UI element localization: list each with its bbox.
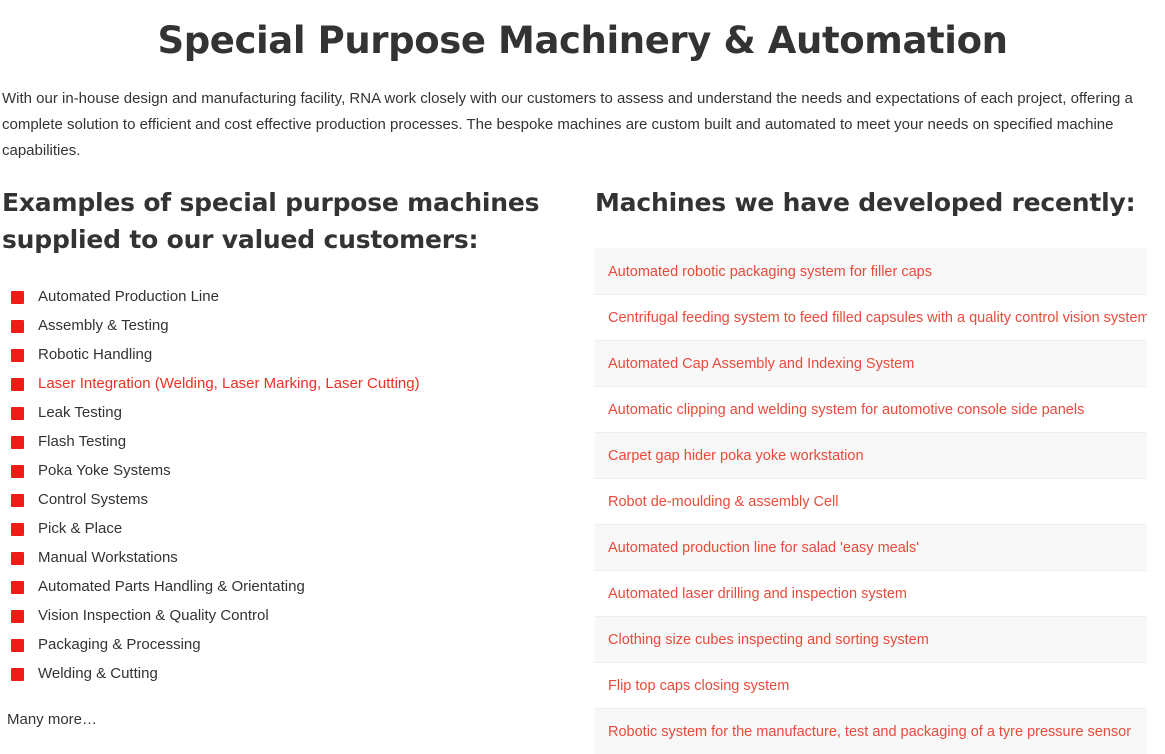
list-item: Automated Parts Handling & Orientating	[2, 572, 575, 601]
machine-list-row[interactable]: Automated production line for salad 'eas…	[595, 524, 1147, 570]
machine-link[interactable]: Clothing size cubes inspecting and sorti…	[608, 617, 929, 662]
page-container: Special Purpose Machinery & Automation W…	[0, 0, 1165, 738]
intro-paragraph: With our in-house design and manufacturi…	[0, 64, 1165, 164]
bullet-square-icon	[11, 639, 24, 652]
list-item-label: Robotic Handling	[38, 346, 152, 363]
bullet-square-icon	[11, 494, 24, 507]
list-item-label: Assembly & Testing	[38, 317, 169, 334]
bullet-square-icon	[11, 436, 24, 449]
machine-list-row[interactable]: Automatic clipping and welding system fo…	[595, 386, 1147, 432]
list-item-label: Manual Workstations	[38, 549, 178, 566]
machine-link[interactable]: Robotic system for the manufacture, test…	[608, 709, 1131, 754]
machine-link[interactable]: Automated production line for salad 'eas…	[608, 525, 919, 570]
bullet-square-icon	[11, 378, 24, 391]
bullet-square-icon	[11, 465, 24, 478]
two-column-layout: Examples of special purpose machines sup…	[0, 164, 1165, 754]
list-item-label: Control Systems	[38, 491, 148, 508]
list-item-label[interactable]: Laser Integration (Welding, Laser Markin…	[38, 375, 420, 392]
list-item: Pick & Place	[2, 514, 575, 543]
bullet-square-icon	[11, 320, 24, 333]
list-item[interactable]: Laser Integration (Welding, Laser Markin…	[2, 369, 575, 398]
machine-list-row[interactable]: Flip top caps closing system	[595, 662, 1147, 708]
machine-link[interactable]: Centrifugal feeding system to feed fille…	[608, 295, 1147, 340]
machine-link[interactable]: Automated laser drilling and inspection …	[608, 571, 907, 616]
bullet-square-icon	[11, 610, 24, 623]
list-item-label: Automated Production Line	[38, 288, 219, 305]
list-item-label: Pick & Place	[38, 520, 122, 537]
machine-list-row[interactable]: Robotic system for the manufacture, test…	[595, 708, 1147, 754]
list-item-label: Flash Testing	[38, 433, 126, 450]
special-purpose-machines-list: Automated Production LineAssembly & Test…	[2, 282, 575, 688]
list-item-label: Vision Inspection & Quality Control	[38, 607, 269, 624]
list-item: Poka Yoke Systems	[2, 456, 575, 485]
machine-link[interactable]: Carpet gap hider poka yoke workstation	[608, 433, 864, 478]
machine-list-row[interactable]: Robot de-moulding & assembly Cell	[595, 478, 1147, 524]
machine-link[interactable]: Automated Cap Assembly and Indexing Syst…	[608, 341, 914, 386]
left-column-heading: Examples of special purpose machines sup…	[2, 184, 575, 258]
right-column-heading: Machines we have developed recently:	[595, 184, 1152, 221]
machine-link[interactable]: Flip top caps closing system	[608, 663, 789, 708]
machine-list-row[interactable]: Centrifugal feeding system to feed fille…	[595, 294, 1147, 340]
machine-link[interactable]: Automated robotic packaging system for f…	[608, 249, 932, 294]
list-item: Automated Production Line	[2, 282, 575, 311]
list-item: Manual Workstations	[2, 543, 575, 572]
bullet-square-icon	[11, 523, 24, 536]
machine-list-row[interactable]: Clothing size cubes inspecting and sorti…	[595, 616, 1147, 662]
machine-list-row[interactable]: Carpet gap hider poka yoke workstation	[595, 432, 1147, 478]
right-column: Machines we have developed recently: Aut…	[595, 184, 1165, 754]
machine-link[interactable]: Robot de-moulding & assembly Cell	[608, 479, 839, 524]
list-item: Assembly & Testing	[2, 311, 575, 340]
list-item-label: Poka Yoke Systems	[38, 462, 171, 479]
bullet-square-icon	[11, 349, 24, 362]
list-item-label: Automated Parts Handling & Orientating	[38, 578, 305, 595]
list-item: Packaging & Processing	[2, 630, 575, 659]
left-column: Examples of special purpose machines sup…	[0, 184, 595, 731]
list-item: Flash Testing	[2, 427, 575, 456]
bullet-square-icon	[11, 581, 24, 594]
machine-list-row[interactable]: Automated robotic packaging system for f…	[595, 248, 1147, 294]
machine-list-row[interactable]: Automated laser drilling and inspection …	[595, 570, 1147, 616]
list-item-label: Leak Testing	[38, 404, 122, 421]
list-item: Welding & Cutting	[2, 659, 575, 688]
list-item-label: Welding & Cutting	[38, 665, 158, 682]
list-item: Vision Inspection & Quality Control	[2, 601, 575, 630]
list-item: Control Systems	[2, 485, 575, 514]
machine-link[interactable]: Automatic clipping and welding system fo…	[608, 387, 1084, 432]
many-more-note: Many more…	[2, 709, 575, 731]
bullet-square-icon	[11, 291, 24, 304]
bullet-square-icon	[11, 552, 24, 565]
list-item: Robotic Handling	[2, 340, 575, 369]
page-title: Special Purpose Machinery & Automation	[0, 0, 1165, 64]
machine-list-row[interactable]: Automated Cap Assembly and Indexing Syst…	[595, 340, 1147, 386]
bullet-square-icon	[11, 668, 24, 681]
recent-machines-list: Automated robotic packaging system for f…	[595, 248, 1147, 754]
bullet-square-icon	[11, 407, 24, 420]
list-item: Leak Testing	[2, 398, 575, 427]
list-item-label: Packaging & Processing	[38, 636, 201, 653]
